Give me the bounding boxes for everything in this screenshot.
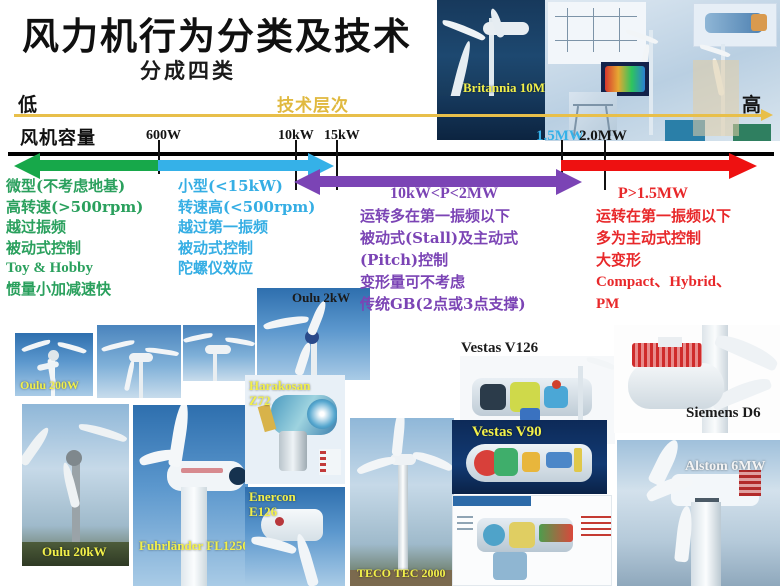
micro-line-2: 高转速(>500rpm) <box>6 197 143 218</box>
tech-level-high-label: 高 <box>742 90 761 117</box>
large-line-5: PM <box>596 293 731 315</box>
category-micro-text: 微型(不考虑地基) 高转速(>500rpm) 越过振频 被动式控制 Toy & … <box>6 176 143 299</box>
medium-line-4: 变形量可不考虑 <box>360 271 526 293</box>
slide-canvas: Britannia 10MW <box>0 0 780 586</box>
axis-tick-label-20mw: 2.0MW <box>579 128 627 145</box>
small-line-2: 转速高(<500rpm) <box>178 197 315 218</box>
medium-line-1: 运转多在第一振频以下 <box>360 205 526 227</box>
tech-level-axis <box>14 114 762 117</box>
photo-label-vestas-v126: Vestas V126 <box>461 340 538 357</box>
range-arrow-large <box>561 160 731 171</box>
photo-fuhrlander-fl1250 <box>133 405 248 586</box>
large-line-4: Compact、Hybrid、 <box>596 271 731 293</box>
photo-enercon-e126 <box>245 487 345 586</box>
photo-siemens-d6 <box>614 325 780 433</box>
photo-britannia-10mw <box>437 0 545 140</box>
capacity-axis-label: 风机容量 <box>20 124 96 150</box>
category-large-text: P>1.5MW 运转在第一振频以下 多为主动式控制 大变形 Compact、Hy… <box>596 183 731 315</box>
axis-tick-label-600w: 600W <box>146 128 181 144</box>
medium-line-5: 传统GB(2点或3点支撑) <box>360 293 526 315</box>
large-line-2: 多为主动式控制 <box>596 227 731 249</box>
small-line-5: 陀螺仪效应 <box>178 258 315 279</box>
axis-tick-label-15mw: 1.5MW <box>536 128 584 145</box>
axis-tick-label-10kw: 10kW <box>278 128 314 144</box>
micro-line-1: 微型(不考虑地基) <box>6 176 143 197</box>
tech-level-low-label: 低 <box>18 90 37 117</box>
large-line-3: 大变形 <box>596 249 731 271</box>
photo-teco-tec2000 <box>350 418 454 586</box>
micro-line-4: 被动式控制 <box>6 238 143 259</box>
micro-line-6: 惯量小加减速快 <box>6 279 143 300</box>
photo-harakosan-z72 <box>245 375 345 484</box>
photo-vestas-v90 <box>452 420 607 494</box>
category-medium-text: 10kW<P<2MW 运转多在第一振频以下 被动式(Stall)及主动式 (Pi… <box>360 183 526 315</box>
small-line-3: 越过第一振频 <box>178 217 315 238</box>
photo-offshore-tech <box>545 0 780 141</box>
photo-oulu-200w <box>15 333 93 396</box>
photo-nacelle-cutaway <box>452 495 612 586</box>
range-arrow-medium-head-right <box>556 169 582 195</box>
capacity-axis-line <box>8 152 774 156</box>
photo-alstom-6mw <box>617 440 780 586</box>
large-line-1: 运转在第一振频以下 <box>596 205 731 227</box>
category-small-text: 小型(<15kW) 转速高(<500rpm) 越过第一振频 被动式控制 陀螺仪效… <box>178 176 315 279</box>
range-arrow-micro <box>38 160 158 171</box>
photo-small-turbine-a <box>97 325 181 398</box>
range-arrow-small <box>158 160 310 171</box>
small-line-1: 小型(<15kW) <box>178 176 315 197</box>
micro-line-3: 越过振频 <box>6 217 143 238</box>
medium-line-3: (Pitch)控制 <box>360 249 526 271</box>
page-subtitle: 分成四类 <box>140 55 236 85</box>
page-title: 风力机行为分类及技术 <box>22 6 412 60</box>
tech-level-title: 技术层次 <box>277 91 349 116</box>
range-arrow-large-head <box>729 153 757 179</box>
large-header: P>1.5MW <box>596 183 731 205</box>
micro-line-5: Toy & Hobby <box>6 258 143 279</box>
small-line-4: 被动式控制 <box>178 238 315 259</box>
medium-line-2: 被动式(Stall)及主动式 <box>360 227 526 249</box>
photo-oulu-20kw <box>22 404 129 566</box>
medium-header: 10kW<P<2MW <box>360 183 526 205</box>
axis-tick-label-15kw: 15kW <box>324 128 360 144</box>
photo-small-turbine-b <box>183 325 255 381</box>
photo-oulu-2kw <box>257 288 370 380</box>
